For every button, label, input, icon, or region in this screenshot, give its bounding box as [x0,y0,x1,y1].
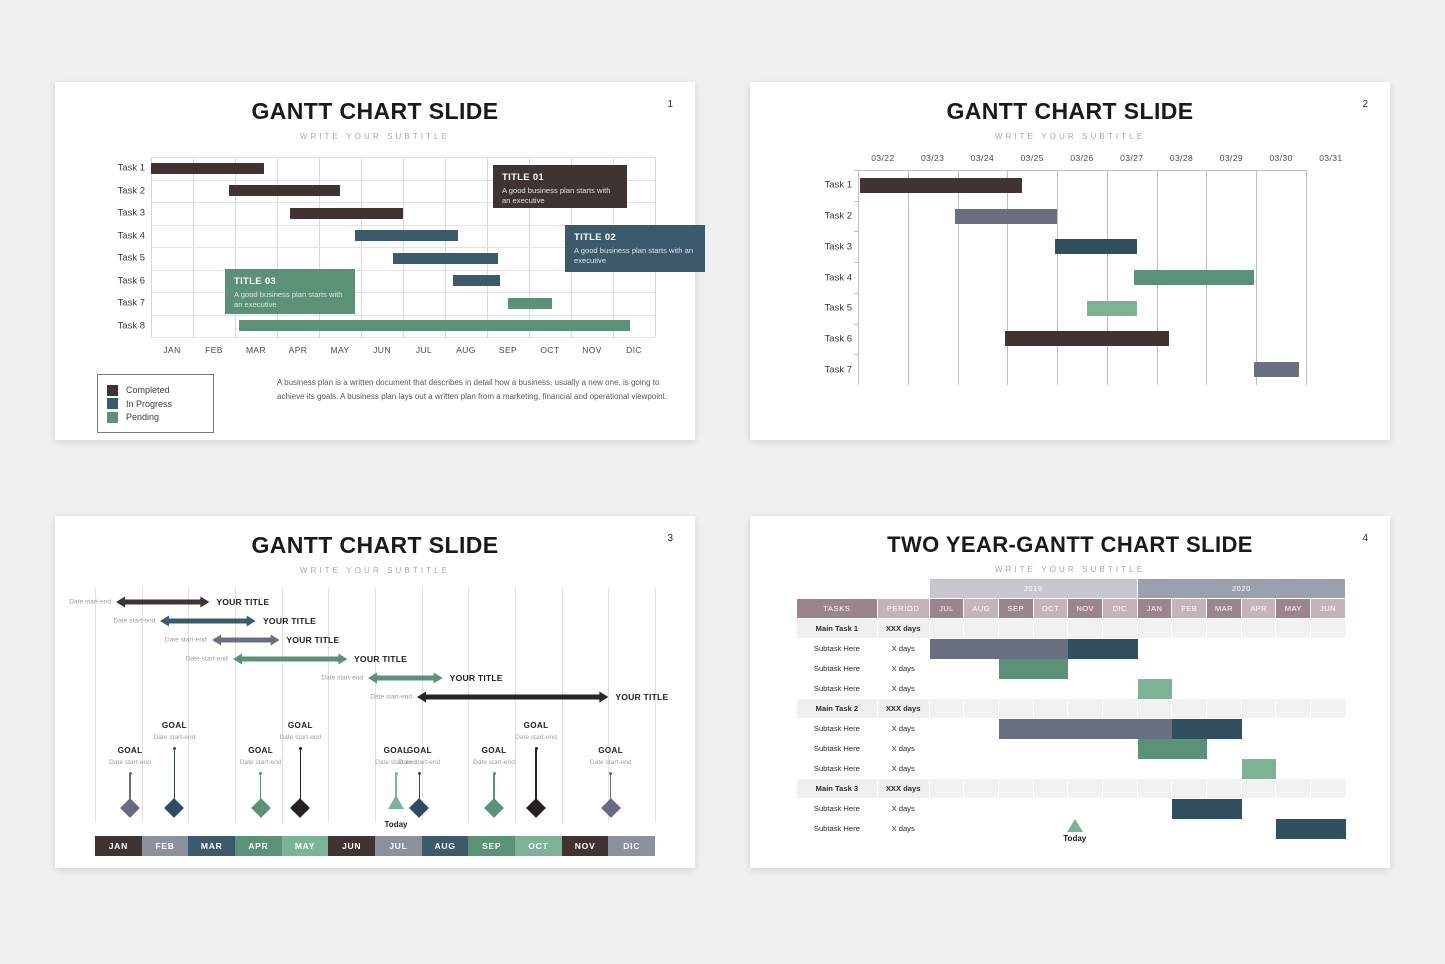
gantt-cell [1137,679,1172,699]
gantt-cell [1207,659,1242,679]
gantt-cell [1103,739,1138,759]
gantt-bar [1055,239,1137,254]
legend-row: In Progress [107,398,204,409]
year-header-2019: 2019 [929,579,1137,599]
grid-line-vertical [655,588,656,822]
gantt-cell [964,679,999,699]
axis-label-y: Task 2 [802,211,852,222]
month-header-nov-4: NOV [1068,599,1103,619]
gantt-cell [929,719,964,739]
table-row: Subtask HereX days [797,799,1346,819]
row-task-name: Subtask Here [797,799,878,819]
gantt-cell [1033,699,1068,719]
axis-tick [854,354,859,355]
gantt-cell [1103,719,1138,739]
page-title: GANTT CHART SLIDE [55,516,695,559]
gantt-cell [1103,759,1138,779]
table-row: Subtask HereX days [797,739,1346,759]
grid-line-vertical [562,588,563,822]
callout-body: A good business plan starts with an exec… [574,246,696,267]
month-header-oct-3: OCT [1033,599,1068,619]
gantt-bar [229,185,340,196]
goal-diamond-icon [526,798,546,818]
timeline-chart-3: Date start-endYOUR TITLEDate start-endYO… [95,582,655,842]
arrow-title: YOUR TITLE [216,597,269,607]
arrow-title: YOUR TITLE [263,616,316,626]
gantt-bar [393,253,498,264]
grid-line-vertical [1306,170,1307,385]
goal-dot [535,747,538,750]
gantt-cell [1103,799,1138,819]
gantt-cell [1241,759,1276,779]
goal-dot [418,772,421,775]
page-subtitle: WRITE YOUR SUBTITLE [55,566,695,575]
gantt-cell [964,719,999,739]
gantt-cell [1103,619,1138,639]
gantt-cell [1241,679,1276,699]
row-period: X days [877,719,929,739]
gantt-cell [1276,619,1311,639]
legend-row: Pending [107,412,204,423]
table-row: Main Task 2XXX days [797,699,1346,719]
row-task-name: Subtask Here [797,739,878,759]
row-task-name: Main Task 1 [797,619,878,639]
arrow-date-label: Date start-end [165,637,207,644]
goal-diamond-icon [484,798,504,818]
gantt-bar [1134,270,1253,285]
slide-4[interactable]: 4 TWO YEAR-GANTT CHART SLIDE WRITE YOUR … [750,516,1390,868]
gantt-cell [998,779,1033,799]
gantt-cell [1033,739,1068,759]
gantt-cell [1068,799,1103,819]
gantt-cell [1276,719,1311,739]
gantt-bar [955,209,1057,224]
gantt-cell [1207,799,1242,819]
axis-label-x: 03/28 [1160,153,1204,163]
goal-title: GOAL [379,746,459,755]
gantt-cell [1103,819,1138,839]
month-header-aug-1: AUG [964,599,999,619]
gantt-cell [964,739,999,759]
goal-title: GOAL [260,721,340,730]
table-header-row: TASKSPERIODJULAUGSEPOCTNOVDICJANFEBMARAP… [797,599,1346,619]
goal-diamond-icon [409,798,429,818]
gantt-cell [964,819,999,839]
axis-label-x: JUN [360,345,404,355]
gantt-cell [1068,679,1103,699]
axis-label-x: 03/25 [1010,153,1054,163]
gantt-cell [1172,759,1207,779]
gantt-cell [1033,779,1068,799]
month-cell-sep[interactable]: SEP [468,836,515,856]
axis-label-x: JAN [150,345,194,355]
gantt-cell [1311,619,1346,639]
gantt-cell [964,639,999,659]
gantt-cell [1033,759,1068,779]
gantt-cell [929,699,964,719]
gantt-bar [239,320,630,331]
row-task-name: Subtask Here [797,719,878,739]
callout-title: TITLE 02 [574,232,696,243]
axis-label-x: MAY [318,345,362,355]
gantt-cell [998,759,1033,779]
month-cell-nov[interactable]: NOV [562,836,609,856]
arrow-date-label: Date start-end [321,675,363,682]
gantt-cell [1276,819,1311,839]
arrow-date-label: Date start-end [69,599,111,606]
gantt-chart-2: Task 1Task 2Task 3Task 4Task 5Task 6Task… [858,170,1306,385]
axis-label-x: JUL [402,345,446,355]
axis-label-x: NOV [570,345,614,355]
gantt-cell [929,779,964,799]
slide-3[interactable]: 3 GANTT CHART SLIDE WRITE YOUR SUBTITLE … [55,516,695,868]
double-arrow-icon [116,595,209,609]
gantt-cell [998,719,1033,739]
goal-title: GOAL [496,721,576,730]
arrow-date-label: Date start-end [114,618,156,625]
callout-box-3: TITLE 03A good business plan starts with… [225,269,355,314]
axis-label-y: Task 5 [89,253,145,264]
gantt-cell [964,619,999,639]
gantt-cell [1207,739,1242,759]
gantt-cell [998,819,1033,839]
axis-label-x: MAR [234,345,278,355]
row-period: X days [877,759,929,779]
gantt-cell [1137,619,1172,639]
goal-title: GOAL [454,746,534,755]
gantt-cell [929,679,964,699]
gantt-cell [1276,779,1311,799]
month-cell-oct[interactable]: OCT [515,836,562,856]
gantt-cell [929,639,964,659]
grid-line-vertical [95,588,96,822]
gantt-cell [1033,719,1068,739]
gantt-bar [290,208,403,219]
axis-tick [854,170,859,171]
callout-body: A good business plan starts with an exec… [234,290,346,311]
legend-label: Completed [126,385,170,395]
gantt-cell [1241,739,1276,759]
slide-number: 3 [667,533,673,544]
goal-date: Date start-end [491,734,581,741]
gantt-cell [1137,659,1172,679]
gantt-cell [1311,659,1346,679]
gantt-cell [1172,639,1207,659]
goal-dot [173,747,176,750]
axis-label-x: AUG [444,345,488,355]
axis-left [858,170,859,385]
axis-label-y: Task 3 [89,208,145,219]
gantt-cell [1276,659,1311,679]
month-header-jul-0: JUL [929,599,964,619]
gantt-cell [1137,819,1172,839]
row-period: X days [877,819,929,839]
page-title: GANTT CHART SLIDE [750,82,1390,125]
double-arrow-icon [160,614,256,628]
grid-line-vertical [375,588,376,822]
axis-label-x: SEP [486,345,530,355]
today-label: Today [1045,834,1105,843]
axis-label-y: Task 7 [89,298,145,309]
callout-body: A good business plan starts with an exec… [502,186,618,207]
gantt-cell [1172,659,1207,679]
month-cell-mar[interactable]: MAR [188,836,235,856]
column-header-tasks: TASKS [797,599,878,619]
gantt-cell [1137,799,1172,819]
double-arrow-icon [368,671,443,685]
table-row: Subtask HereX days [797,639,1346,659]
goal-dot [259,772,262,775]
month-header-mar-8: MAR [1207,599,1242,619]
gantt-cell [998,799,1033,819]
gantt-cell [1311,639,1346,659]
grid-line-vertical [1256,170,1257,385]
row-period: X days [877,639,929,659]
grid-line-vertical [468,588,469,822]
row-period: X days [877,659,929,679]
axis-label-x: 03/23 [911,153,955,163]
gantt-bar [860,178,1022,193]
row-task-name: Main Task 2 [797,699,878,719]
gantt-cell [929,759,964,779]
goal-dot [395,772,398,775]
axis-label-y: Task 4 [802,272,852,283]
gantt-cell [1311,739,1346,759]
gantt-bar [1005,331,1169,346]
page-subtitle: WRITE YOUR SUBTITLE [750,565,1390,574]
goal-triangle-icon [388,795,404,809]
grid-line-vertical [422,588,423,822]
axis-label-y: Task 7 [802,364,852,375]
gantt-cell [1276,699,1311,719]
gantt-cell [1241,619,1276,639]
arrow-date-label: Date start-end [186,656,228,663]
row-task-name: Subtask Here [797,659,878,679]
month-header-jan-6: JAN [1137,599,1172,619]
gantt-cell [1207,639,1242,659]
goal-title: GOAL [571,746,651,755]
gantt-cell [1207,819,1242,839]
today-marker-4: Today [1045,819,1105,843]
goal-date: Date start-end [566,759,656,766]
gantt-cell [1103,699,1138,719]
gantt-cell [1311,799,1346,819]
gantt-cell [998,739,1033,759]
gantt-bar [1254,362,1299,377]
axis-label-x: 03/26 [1060,153,1104,163]
month-cell-jan[interactable]: JAN [95,836,142,856]
gantt-cell [1311,759,1346,779]
gantt-cell [1137,739,1172,759]
gantt-cell [1172,799,1207,819]
slide-2[interactable]: 2 GANTT CHART SLIDE WRITE YOUR SUBTITLE … [750,82,1390,440]
month-cell-aug[interactable]: AUG [422,836,469,856]
legend-label: In Progress [126,399,172,409]
gantt-cell [998,619,1033,639]
grid-line-vertical [1057,170,1058,385]
page-subtitle: WRITE YOUR SUBTITLE [750,132,1390,141]
axis-label-y: Task 3 [802,241,852,252]
axis-label-x: FEB [192,345,236,355]
gantt-cell [1172,739,1207,759]
month-cell-jun[interactable]: JUN [328,836,375,856]
gantt-cell [998,679,1033,699]
gantt-cell [929,619,964,639]
grid-line-vertical [1107,170,1108,385]
year-row-spacer [797,579,930,599]
gantt-cell [1068,719,1103,739]
gantt-cell [1311,699,1346,719]
axis-label-y: Task 2 [89,185,145,196]
goal-dot [299,747,302,750]
row-period: X days [877,739,929,759]
gantt-cell [1276,639,1311,659]
month-header-feb-7: FEB [1172,599,1207,619]
gantt-cell [1276,679,1311,699]
gantt-cell [1311,679,1346,699]
gantt-cell [1033,799,1068,819]
double-arrow-icon [417,690,608,704]
chart-description: A business plan is a written document th… [277,376,667,404]
gantt-cell [1207,619,1242,639]
month-header-may-10: MAY [1276,599,1311,619]
gantt-cell [1241,779,1276,799]
gantt-cell [1172,699,1207,719]
gantt-cell [1172,679,1207,699]
today-triangle-icon [1067,819,1083,832]
goal-diamond-icon [120,798,140,818]
double-arrow-icon [212,633,280,647]
gantt-cell [1207,779,1242,799]
axis-label-y: Task 6 [802,333,852,344]
axis-label-y: Task 1 [802,180,852,191]
gantt-cell [1172,779,1207,799]
goal-diamond-icon [601,798,621,818]
month-cell-feb[interactable]: FEB [142,836,189,856]
table-year-row: 20192020 [797,579,1346,599]
gantt-cell [1172,719,1207,739]
goal-date: Date start-end [449,759,539,766]
gantt-cell [1172,619,1207,639]
slide-number: 2 [1362,99,1368,110]
slide-1[interactable]: 1 GANTT CHART SLIDE WRITE YOUR SUBTITLE … [55,82,695,440]
gantt-cell [1137,759,1172,779]
month-cell-apr[interactable]: APR [235,836,282,856]
goal-diamond-icon [164,798,184,818]
month-cell-may[interactable]: MAY [282,836,329,856]
legend-swatch [107,398,118,409]
goal-title: GOAL [134,721,214,730]
month-header-dic-5: DIC [1103,599,1138,619]
table-row: Main Task 3XXX days [797,779,1346,799]
today-label: Today [366,820,426,829]
gantt-chart-1: Task 1Task 2Task 3Task 4Task 5Task 6Task… [151,157,655,337]
double-arrow-icon [233,652,347,666]
gantt-cell [1068,739,1103,759]
gantt-cell [1137,719,1172,739]
axis-label-y: Task 6 [89,275,145,286]
gantt-cell [1241,719,1276,739]
two-year-gantt-table: 20192020TASKSPERIODJULAUGSEPOCTNOVDICJAN… [796,578,1346,839]
gantt-cell [1207,679,1242,699]
grid-line-vertical [1007,170,1008,385]
gantt-cell [1137,699,1172,719]
gantt-cell [1033,619,1068,639]
page-title: GANTT CHART SLIDE [55,82,695,125]
column-header-period: PERIOD [877,599,929,619]
row-task-name: Subtask Here [797,679,878,699]
gantt-cell [929,799,964,819]
legend-row: Completed [107,385,204,396]
gantt-bar [1087,301,1137,316]
gantt-bar [508,298,552,309]
axis-tick [854,262,859,263]
axis-label-x: APR [276,345,320,355]
arrow-title: YOUR TITLE [615,692,668,702]
gantt-cell [1068,759,1103,779]
page-subtitle: WRITE YOUR SUBTITLE [55,132,695,141]
gantt-cell [1103,779,1138,799]
row-task-name: Subtask Here [797,819,878,839]
month-cell-jul[interactable]: JUL [375,836,422,856]
gantt-cell [1241,799,1276,819]
year-header-2020: 2020 [1137,579,1345,599]
row-period: XXX days [877,619,929,639]
gantt-cell [1172,819,1207,839]
axis-label-x: 03/29 [1209,153,1253,163]
table-row: Subtask HereX days [797,659,1346,679]
month-cell-dic[interactable]: DIC [608,836,655,856]
gantt-cell [1276,799,1311,819]
gantt-bar [453,275,499,286]
goal-date: Date start-end [129,734,219,741]
gantt-cell [1068,619,1103,639]
page-title: TWO YEAR-GANTT CHART SLIDE [750,516,1390,558]
goal-diamond-icon [251,798,271,818]
row-period: X days [877,799,929,819]
chart-legend: CompletedIn ProgressPending [97,374,214,433]
slide-number: 4 [1362,533,1368,544]
axis-label-y: Task 8 [89,320,145,331]
gantt-cell [1311,779,1346,799]
gantt-cell [1068,699,1103,719]
gantt-cell [1241,819,1276,839]
axis-label-x: OCT [528,345,572,355]
axis-label-x: DIC [612,345,656,355]
gantt-cell [1241,699,1276,719]
goal-diamond-icon [290,798,310,818]
gantt-cell [964,759,999,779]
axis-tick [854,324,859,325]
axis-label-x: 03/30 [1259,153,1303,163]
axis-label-x: 03/31 [1309,153,1353,163]
gantt-cell [1276,759,1311,779]
gantt-cell [1103,659,1138,679]
gantt-cell [998,699,1033,719]
row-period: XXX days [877,779,929,799]
row-period: XXX days [877,699,929,719]
gantt-cell [1276,739,1311,759]
table-row: Main Task 1XXX days [797,619,1346,639]
arrow-title: YOUR TITLE [354,654,407,664]
gantt-cell [1068,639,1103,659]
gantt-bar [355,230,458,241]
grid-line-vertical [908,170,909,385]
axis-label-y: Task 1 [89,163,145,174]
gantt-cell [1207,699,1242,719]
gantt-cell [964,699,999,719]
row-task-name: Subtask Here [797,759,878,779]
